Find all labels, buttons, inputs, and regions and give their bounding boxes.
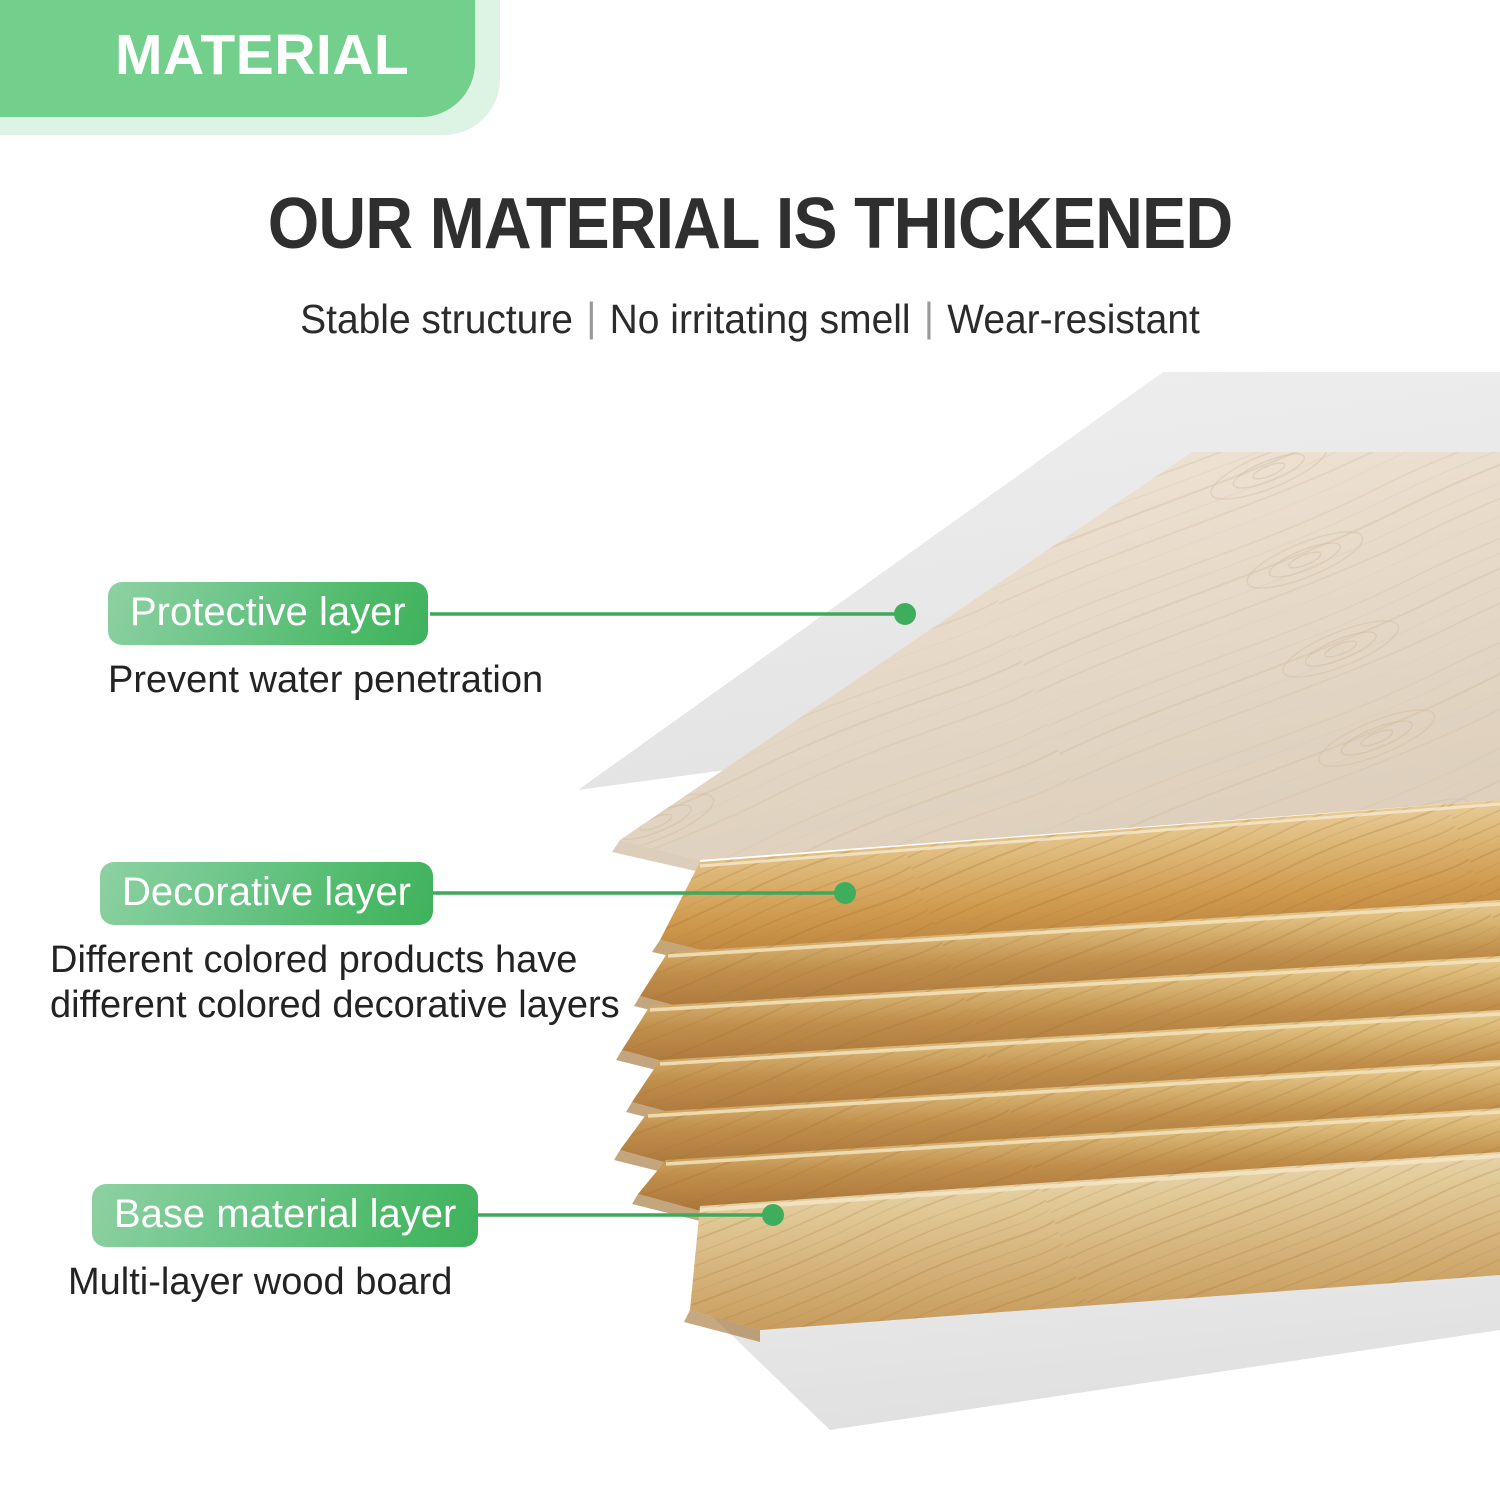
callout-description-decorative: Different colored products have differen…	[50, 938, 620, 1028]
callout-decorative-layer: Decorative layer Different colored produ…	[100, 862, 620, 1028]
callout-base-material-layer: Base material layer Multi-layer wood boa…	[92, 1184, 478, 1305]
callout-badge-protective: Protective layer	[108, 582, 428, 645]
material-infographic: MATERIAL OUR MATERIAL IS THICKENED Stabl…	[0, 0, 1500, 1500]
banner-label: MATERIAL	[115, 22, 409, 88]
callout-protective-layer: Protective layer Prevent water penetrati…	[108, 582, 543, 703]
callout-badge-base: Base material layer	[92, 1184, 478, 1247]
callout-description-protective: Prevent water penetration	[108, 658, 543, 703]
callout-description-base: Multi-layer wood board	[68, 1260, 478, 1305]
callout-badge-decorative: Decorative layer	[100, 862, 433, 925]
